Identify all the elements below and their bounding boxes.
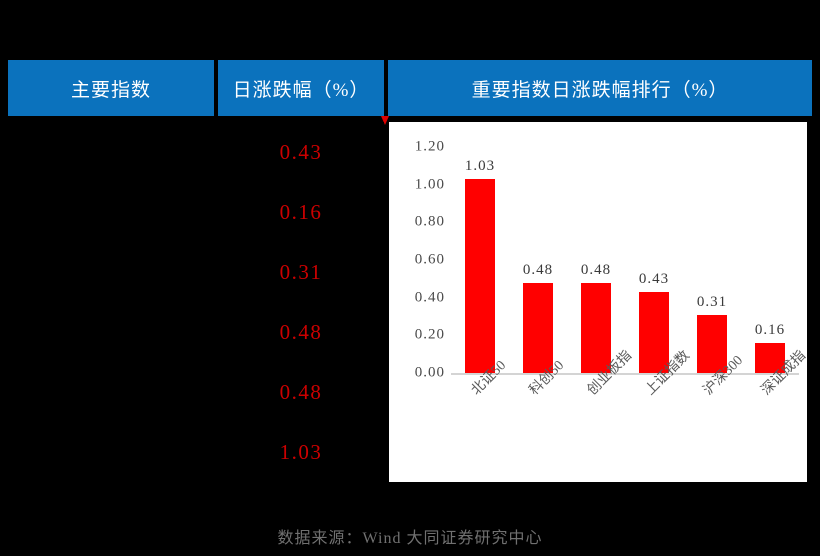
daily-change-value: 0.31: [218, 242, 384, 302]
chart-bar-value-label: 0.43: [625, 271, 683, 288]
daily-change-value: 0.48: [218, 362, 384, 422]
y-axis-tick-label: 1.20: [397, 139, 445, 156]
footer-data-source: 数据来源：Wind 大同证券研究中心: [0, 524, 820, 548]
chart-bar-value-label: 0.48: [509, 262, 567, 279]
chart-bar-slot: 0.48: [567, 147, 625, 373]
chart-bar-value-label: 0.48: [567, 262, 625, 279]
y-axis-tick-label: 0.80: [397, 214, 445, 231]
chart-bar-value-label: 1.03: [451, 158, 509, 175]
chart-bar: [465, 179, 495, 373]
table-row: [8, 422, 214, 482]
chart-bar-value-label: 0.31: [683, 294, 741, 311]
y-axis-tick-label: 0.00: [397, 365, 445, 382]
y-axis-tick-label: 0.20: [397, 327, 445, 344]
chart-plot-area: 1.030.480.480.430.310.16: [451, 147, 799, 373]
header-rank-chart: 重要指数日涨跌幅排行（%）: [388, 60, 812, 116]
chart-bar-slot: 0.16: [741, 147, 799, 373]
chart-bar-value-label: 0.16: [741, 322, 799, 339]
daily-change-value: 0.48: [218, 302, 384, 362]
table-row: [8, 242, 214, 302]
chart-bar-slot: 0.43: [625, 147, 683, 373]
chart-bar-slot: 0.31: [683, 147, 741, 373]
y-axis-tick-label: 1.00: [397, 176, 445, 193]
daily-change-value: 0.16: [218, 182, 384, 242]
y-axis-tick-label: 0.60: [397, 252, 445, 269]
table-header-row: 主要指数 日涨跌幅（%） 重要指数日涨跌幅排行（%）: [8, 60, 812, 116]
table-row: [8, 122, 214, 182]
table-row: [8, 182, 214, 242]
chart-bar-slot: 0.48: [509, 147, 567, 373]
rank-bar-chart-panel: 1.030.480.480.430.310.16 1.201.000.800.6…: [389, 122, 807, 482]
header-daily-change: 日涨跌幅（%）: [218, 60, 384, 116]
y-axis-tick-label: 0.40: [397, 289, 445, 306]
daily-change-value: 1.03: [218, 422, 384, 482]
column-main-index: [8, 122, 214, 482]
table-row: [8, 302, 214, 362]
chart-inner: 1.030.480.480.430.310.16 1.201.000.800.6…: [389, 122, 807, 482]
table-row: [8, 362, 214, 422]
column-daily-change: 0.430.160.310.480.481.03: [218, 122, 384, 482]
chart-bar-slot: 1.03: [451, 147, 509, 373]
daily-change-value: 0.43: [218, 122, 384, 182]
header-main-index: 主要指数: [8, 60, 214, 116]
